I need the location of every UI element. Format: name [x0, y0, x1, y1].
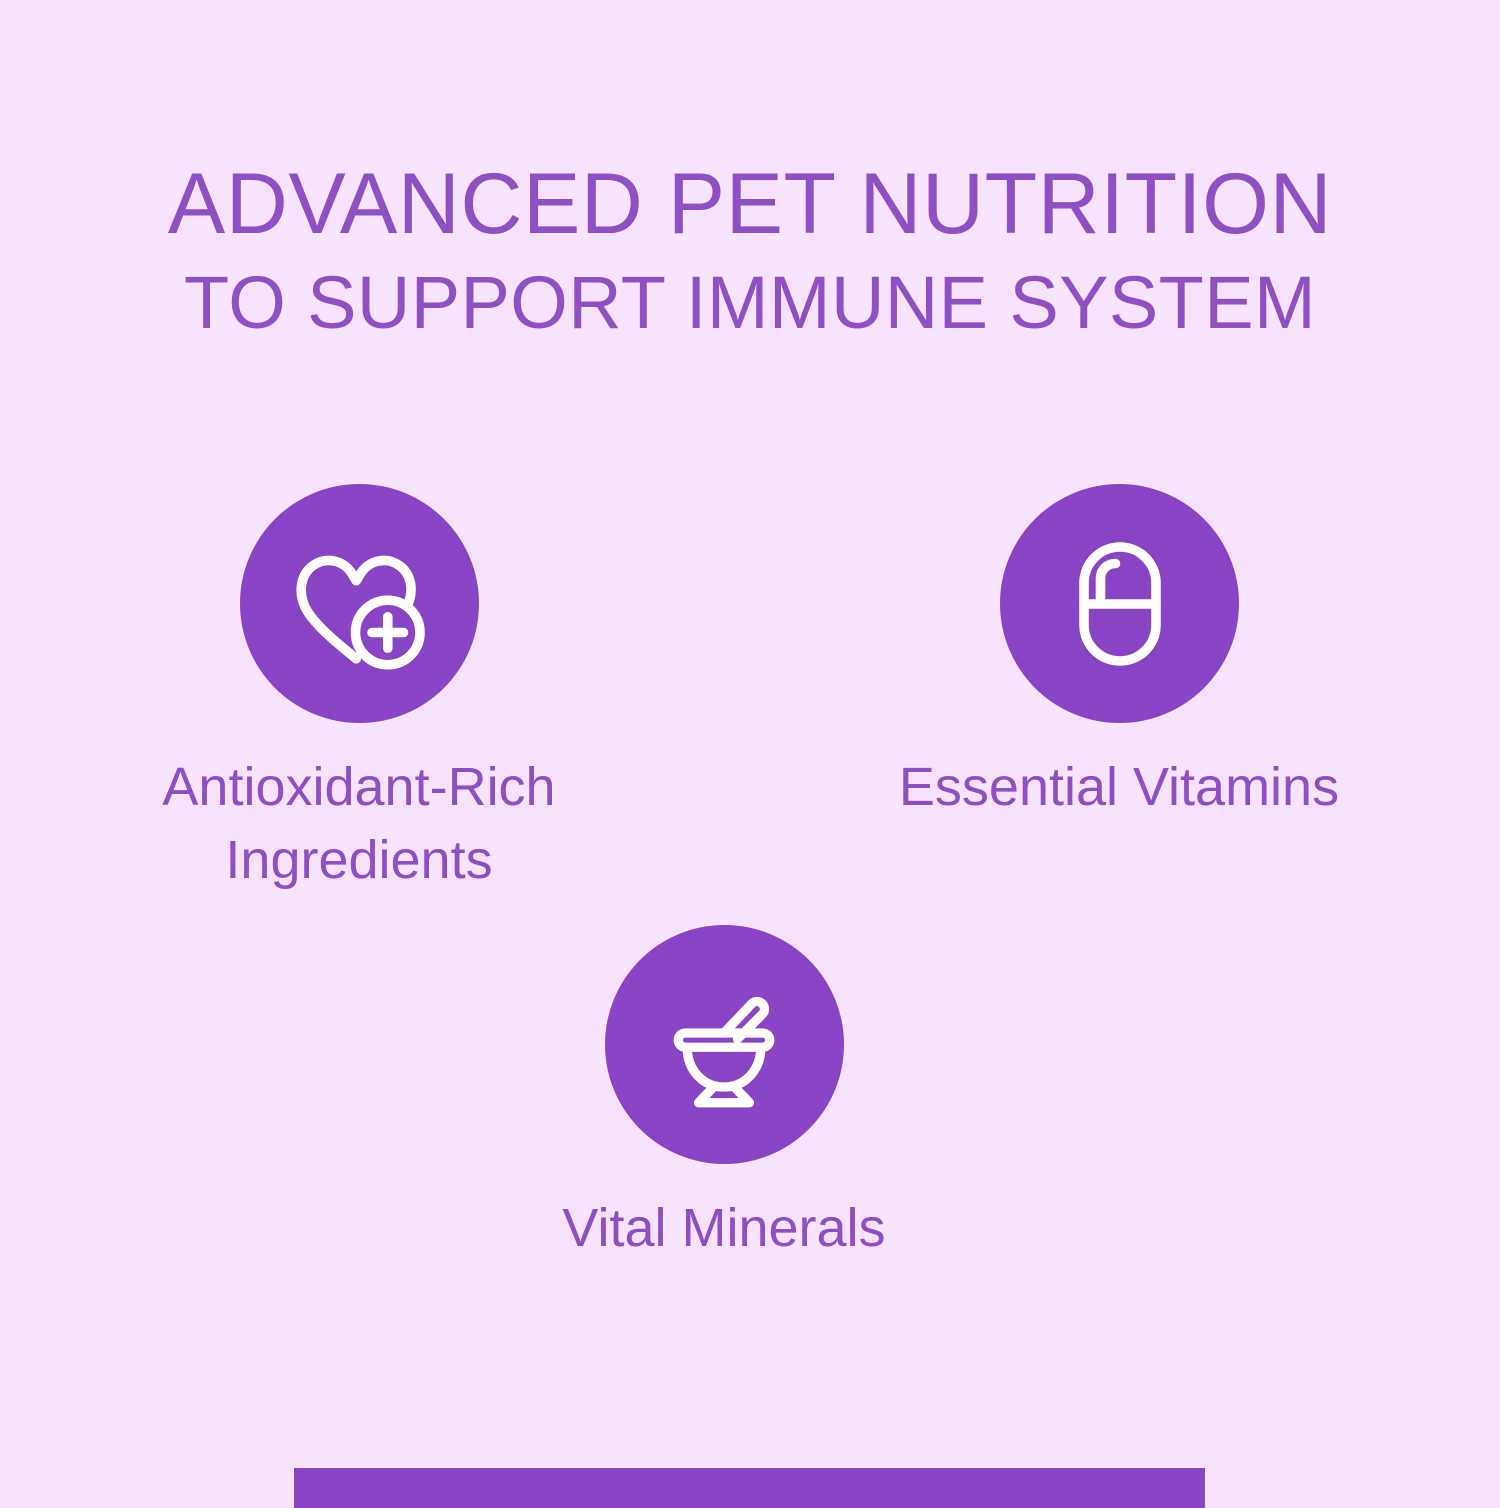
infographic-canvas: ADVANCED PET NUTRITION TO SUPPORT IMMUNE… — [0, 0, 1500, 1500]
feature-vital-minerals: Vital Minerals — [425, 925, 1023, 1265]
icon-badge-vitamins — [1000, 484, 1239, 723]
headline-primary: ADVANCED PET NUTRITION — [0, 162, 1500, 246]
icon-badge-minerals — [605, 925, 844, 1164]
feature-label-minerals: Vital Minerals — [425, 1192, 1023, 1265]
heart-plus-icon — [285, 529, 435, 679]
icon-badge-antioxidant — [240, 484, 479, 723]
page-title: ADVANCED PET NUTRITION TO SUPPORT IMMUNE… — [0, 162, 1500, 342]
feature-label-antioxidant: Antioxidant-Rich Ingredients — [60, 751, 658, 897]
headline-secondary: TO SUPPORT IMMUNE SYSTEM — [0, 264, 1500, 342]
feature-essential-vitamins: Essential Vitamins — [820, 484, 1418, 824]
bottom-accent-bar — [294, 1468, 1205, 1508]
mortar-and-pestle-icon — [649, 970, 799, 1120]
feature-antioxidant-rich-ingredients: Antioxidant-Rich Ingredients — [60, 484, 658, 897]
feature-label-vitamins: Essential Vitamins — [820, 751, 1418, 824]
capsule-pill-icon — [1045, 529, 1195, 679]
